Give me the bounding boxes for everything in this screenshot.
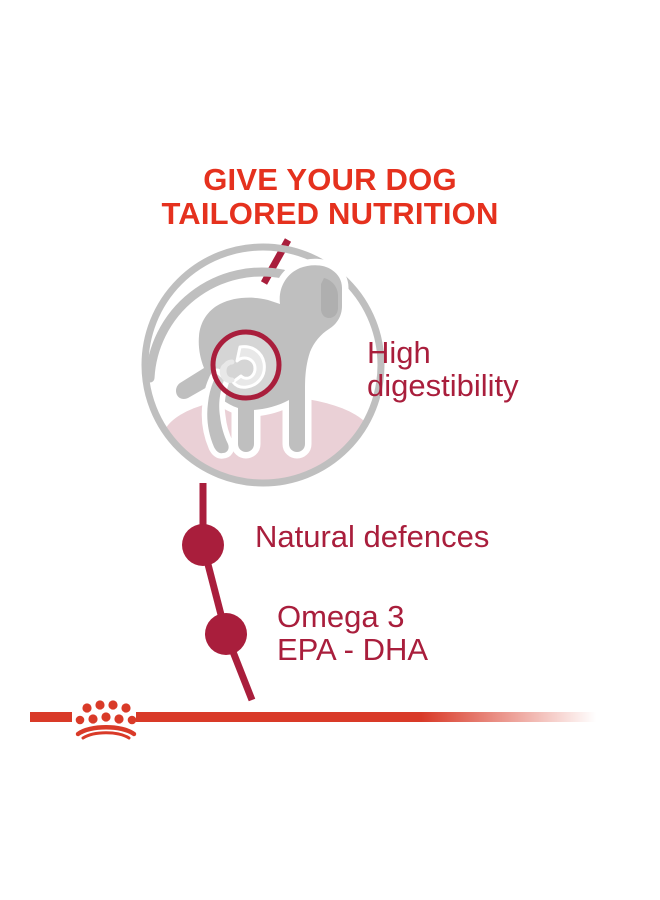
feature-line-2: digestibility	[367, 370, 519, 403]
connector-line-middle	[203, 545, 226, 634]
feature-line-2: EPA - DHA	[277, 634, 428, 667]
product-feature-poster: GIVE YOUR DOG TAILORED NUTRITION	[0, 0, 660, 900]
feature-line-1: High	[367, 335, 431, 370]
dog-in-circle-illustration	[128, 230, 398, 500]
feature-line-1: Natural defences	[255, 519, 489, 554]
headline-line-1: GIVE YOUR DOG	[203, 162, 457, 197]
feature-line-1: Omega 3	[277, 599, 405, 634]
feature-label-natural-defences: Natural defences	[255, 521, 489, 554]
page-title: GIVE YOUR DOG TAILORED NUTRITION	[0, 163, 660, 231]
brand-footer	[0, 700, 660, 740]
divider-left-segment	[30, 712, 72, 722]
bullet-dot-omega-3	[205, 613, 247, 655]
headline-line-2: TAILORED NUTRITION	[0, 197, 660, 231]
feature-label-omega-3: Omega 3 EPA - DHA	[277, 601, 428, 667]
bullet-dot-natural-defences	[182, 524, 224, 566]
connector-line-lower	[226, 634, 252, 700]
feature-label-high-digestibility: High digestibility	[367, 337, 519, 403]
royal-canin-crown-icon	[76, 700, 137, 738]
divider-right-segment	[136, 712, 596, 722]
